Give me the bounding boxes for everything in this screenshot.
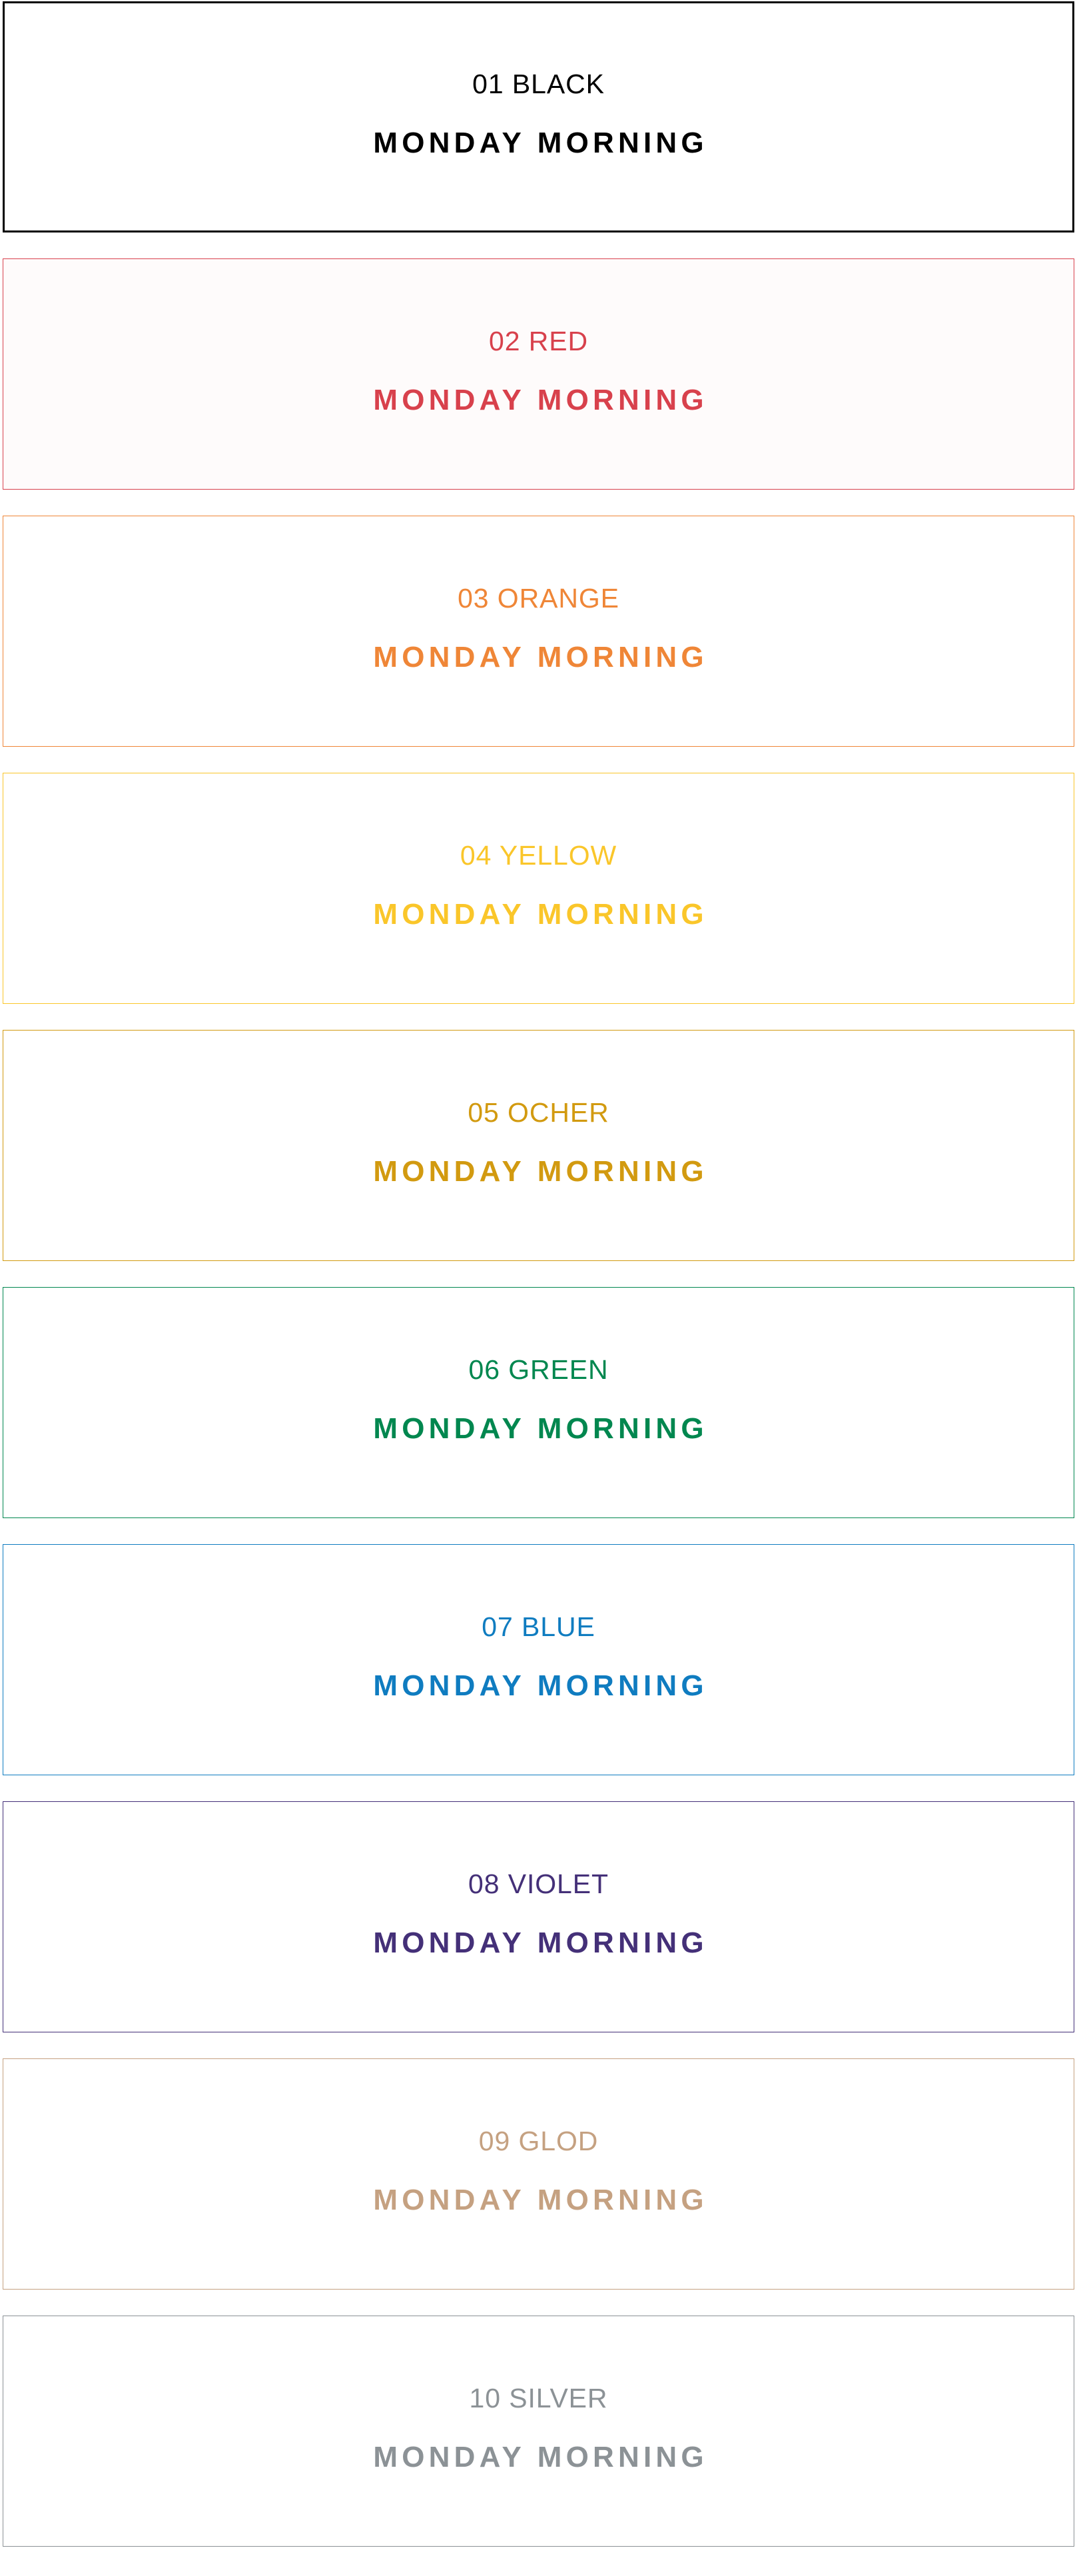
swatch-label: 06 GREEN (469, 1356, 609, 1384)
swatch-card-red[interactable]: 02 REDMONDAY MORNING (3, 258, 1074, 490)
swatch-label: 04 YELLOW (460, 842, 617, 869)
swatch-content: 02 REDMONDAY MORNING (369, 328, 708, 415)
swatch-card-yellow[interactable]: 04 YELLOWMONDAY MORNING (3, 773, 1074, 1004)
swatch-content: 06 GREENMONDAY MORNING (369, 1356, 708, 1444)
swatch-card-ocher[interactable]: 05 OCHERMONDAY MORNING (3, 1030, 1074, 1261)
swatch-label: 05 OCHER (468, 1099, 609, 1126)
swatch-phrase: MONDAY MORNING (369, 2443, 708, 2472)
swatch-card-glod[interactable]: 09 GLODMONDAY MORNING (3, 2058, 1074, 2290)
swatch-label: 08 VIOLET (468, 1871, 609, 1898)
swatch-content: 09 GLODMONDAY MORNING (369, 2128, 708, 2215)
swatch-content: 03 ORANGEMONDAY MORNING (369, 585, 708, 672)
swatch-label: 09 GLOD (479, 2128, 599, 2155)
swatch-phrase: MONDAY MORNING (369, 1157, 708, 1186)
swatch-phrase: MONDAY MORNING (369, 2186, 708, 2215)
swatch-phrase: MONDAY MORNING (369, 1414, 708, 1444)
swatch-phrase: MONDAY MORNING (369, 643, 708, 672)
swatch-content: 08 VIOLETMONDAY MORNING (369, 1871, 708, 1958)
swatch-card-green[interactable]: 06 GREENMONDAY MORNING (3, 1287, 1074, 1518)
swatch-content: 05 OCHERMONDAY MORNING (369, 1099, 708, 1186)
swatch-card-black[interactable]: 01 BLACKMONDAY MORNING (3, 1, 1074, 232)
swatch-phrase: MONDAY MORNING (369, 129, 708, 158)
swatch-content: 04 YELLOWMONDAY MORNING (369, 842, 708, 929)
swatch-card-orange[interactable]: 03 ORANGEMONDAY MORNING (3, 516, 1074, 747)
swatch-label: 10 SILVER (470, 2385, 608, 2412)
swatch-phrase: MONDAY MORNING (369, 386, 708, 415)
swatch-label: 07 BLUE (482, 1613, 595, 1641)
swatch-content: 10 SILVERMONDAY MORNING (369, 2385, 708, 2472)
swatch-card-violet[interactable]: 08 VIOLETMONDAY MORNING (3, 1801, 1074, 2032)
swatch-phrase: MONDAY MORNING (369, 900, 708, 929)
swatch-label: 01 BLACK (472, 71, 605, 98)
swatch-card-silver[interactable]: 10 SILVERMONDAY MORNING (3, 2316, 1074, 2547)
swatch-phrase: MONDAY MORNING (369, 1929, 708, 1958)
swatch-label: 03 ORANGE (458, 585, 619, 612)
swatch-content: 01 BLACKMONDAY MORNING (369, 71, 708, 158)
swatch-card-blue[interactable]: 07 BLUEMONDAY MORNING (3, 1544, 1074, 1775)
swatch-label: 02 RED (489, 328, 588, 355)
color-swatch-list: 01 BLACKMONDAY MORNING02 REDMONDAY MORNI… (0, 0, 1077, 2547)
swatch-content: 07 BLUEMONDAY MORNING (369, 1613, 708, 1701)
swatch-phrase: MONDAY MORNING (369, 1671, 708, 1701)
